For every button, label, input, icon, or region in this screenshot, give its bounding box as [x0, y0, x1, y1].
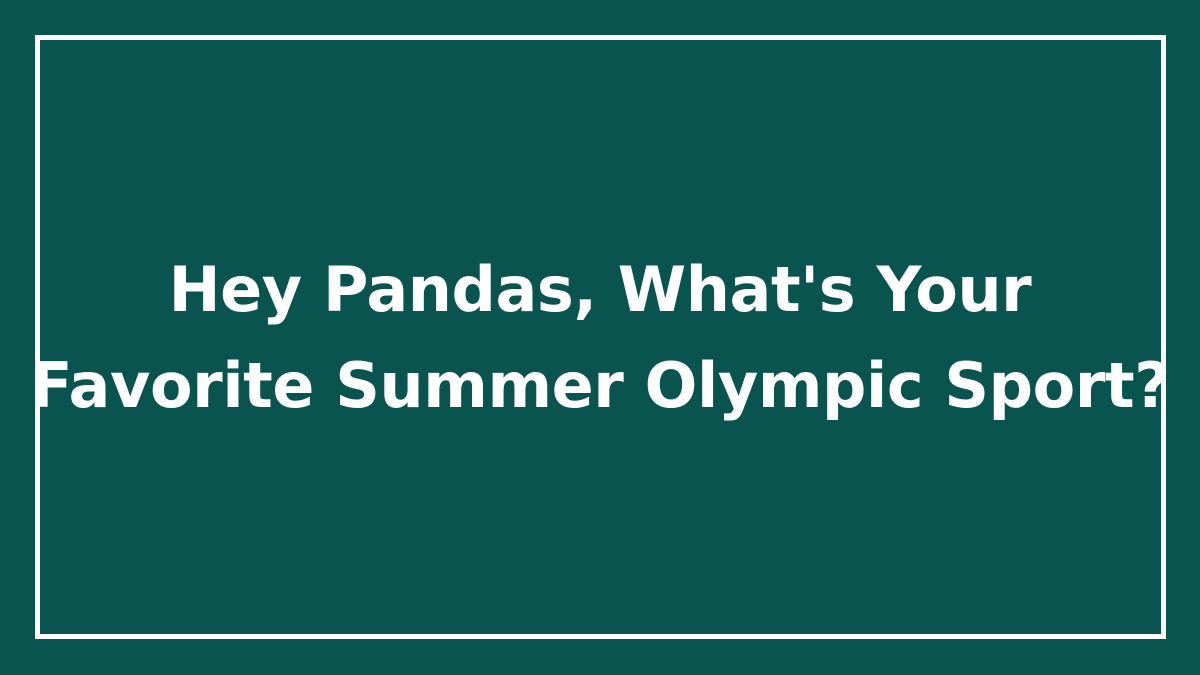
poster-card: Hey Pandas, What's Your Favorite Summer … [0, 0, 1200, 675]
page-title: Hey Pandas, What's Your Favorite Summer … [30, 242, 1170, 434]
headline-line-1: Hey Pandas, What's Your [30, 242, 1170, 338]
headline-line-2: Favorite Summer Olympic Sport? [30, 338, 1170, 434]
poster-content: Hey Pandas, What's Your Favorite Summer … [0, 0, 1200, 675]
